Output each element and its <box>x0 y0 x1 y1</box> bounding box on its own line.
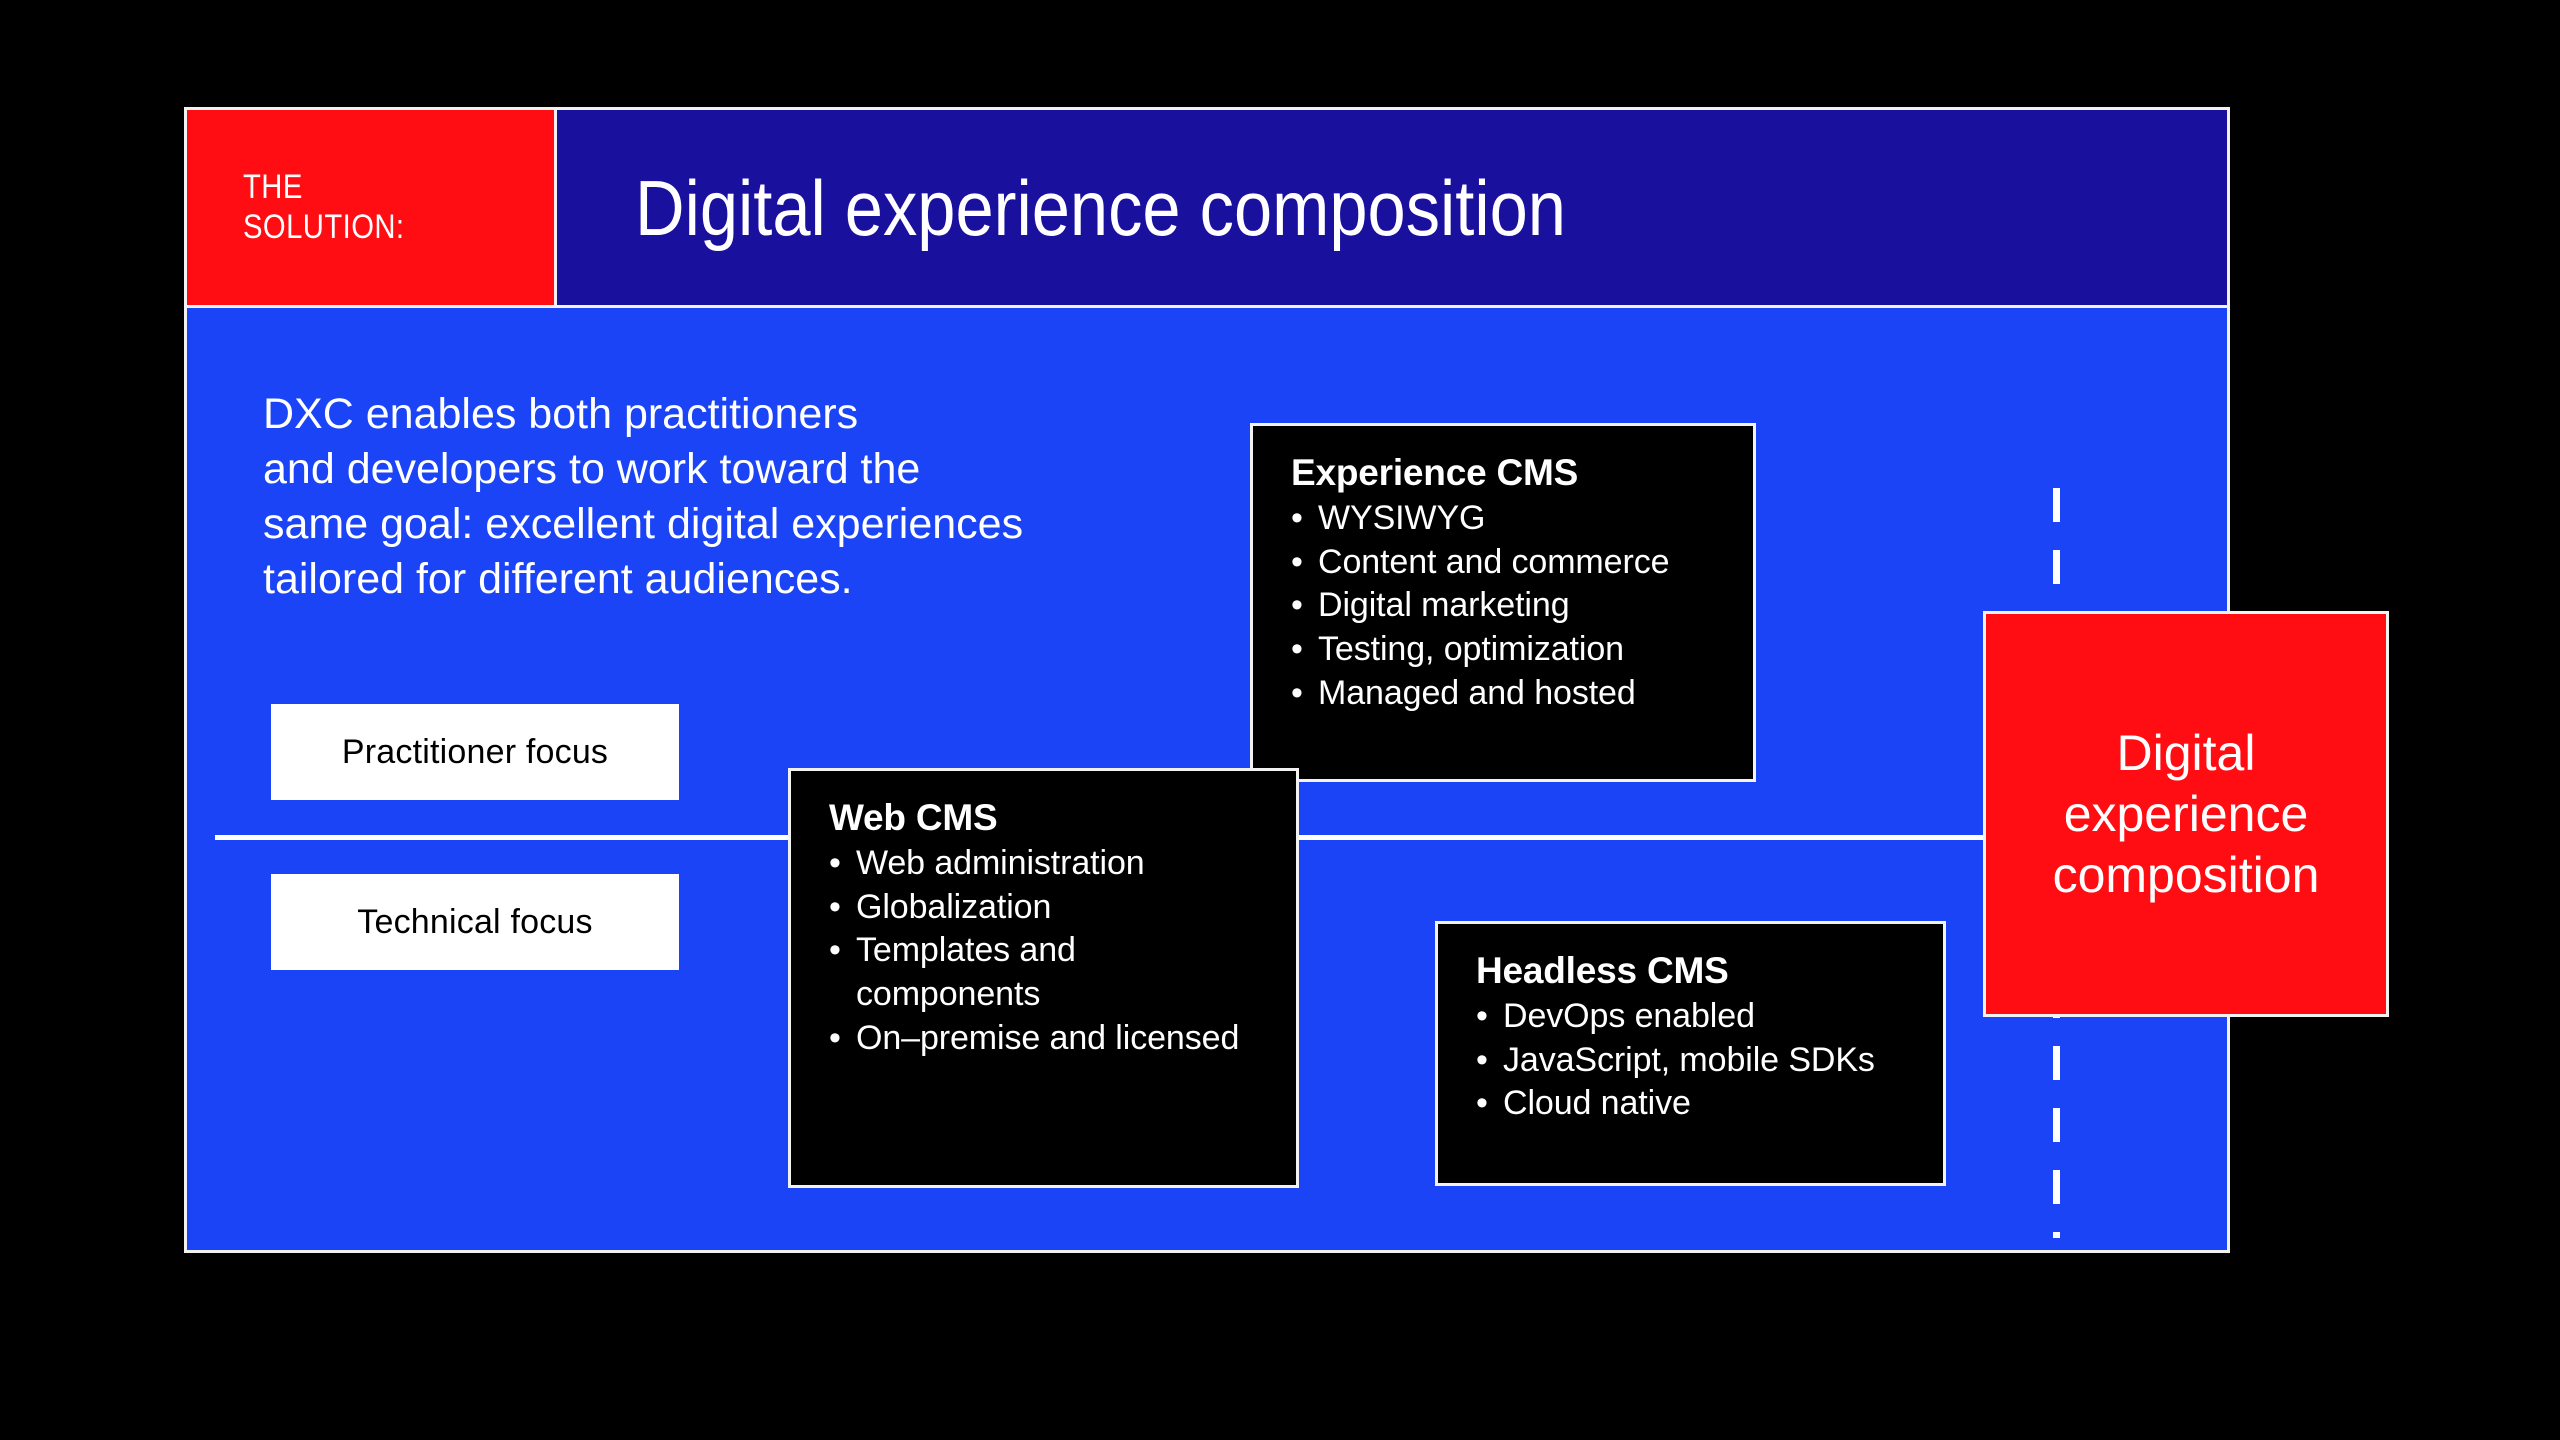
card-headless-cms-title: Headless CMS <box>1476 950 1913 991</box>
intro-line-4: tailored for different audiences. <box>263 552 1183 607</box>
header-title-area: Digital experience composition <box>557 110 2227 305</box>
header-band: THE SOLUTION: Digital experience composi… <box>187 110 2227 308</box>
outcome-line-1: Digital <box>2117 725 2256 781</box>
chip-technical-focus: Technical focus <box>271 874 679 970</box>
card-experience-cms-title: Experience CMS <box>1291 452 1723 493</box>
list-item: On–premise and licensed <box>829 1017 1266 1061</box>
list-item: Managed and hosted <box>1291 672 1723 716</box>
card-headless-cms-list: DevOps enabled JavaScript, mobile SDKs C… <box>1476 995 1913 1126</box>
card-web-cms-list: Web administration Globalization Templat… <box>829 842 1266 1060</box>
chip-practitioner-focus: Practitioner focus <box>271 704 679 800</box>
intro-paragraph: DXC enables both practitioners and devel… <box>263 387 1183 607</box>
list-item: Digital marketing <box>1291 584 1723 628</box>
list-item: WYSIWYG <box>1291 497 1723 541</box>
page-title: Digital experience composition <box>635 169 1566 247</box>
card-headless-cms: Headless CMS DevOps enabled JavaScript, … <box>1435 921 1946 1186</box>
outcome-line-3: composition <box>2053 847 2320 903</box>
list-item: Globalization <box>829 886 1266 930</box>
header-kicker-line-2: SOLUTION: <box>243 208 510 247</box>
intro-line-2: and developers to work toward the <box>263 442 1183 497</box>
list-item: Cloud native <box>1476 1082 1913 1126</box>
content-panel: THE SOLUTION: Digital experience composi… <box>184 107 2230 1253</box>
chip-practitioner-focus-label: Practitioner focus <box>342 733 608 772</box>
card-experience-cms: Experience CMS WYSIWYG Content and comme… <box>1250 423 1756 782</box>
header-kicker-line-1: THE <box>243 168 510 207</box>
card-web-cms: Web CMS Web administration Globalization… <box>788 768 1299 1188</box>
card-web-cms-title: Web CMS <box>829 797 1266 838</box>
header-kicker: THE SOLUTION: <box>187 110 557 305</box>
list-item: Testing, optimization <box>1291 628 1723 672</box>
slide-canvas: THE SOLUTION: Digital experience composi… <box>0 0 2560 1440</box>
list-item: Content and commerce <box>1291 541 1723 585</box>
intro-line-1: DXC enables both practitioners <box>263 387 1183 442</box>
outcome-box: Digital experience composition <box>1983 611 2389 1017</box>
list-item: Templates and components <box>829 929 1266 1016</box>
intro-line-3: same goal: excellent digital experiences <box>263 497 1183 552</box>
chip-technical-focus-label: Technical focus <box>357 903 592 942</box>
outcome-box-text: Digital experience composition <box>2053 723 2320 906</box>
list-item: JavaScript, mobile SDKs <box>1476 1039 1913 1083</box>
list-item: Web administration <box>829 842 1266 886</box>
card-experience-cms-list: WYSIWYG Content and commerce Digital mar… <box>1291 497 1723 715</box>
list-item: DevOps enabled <box>1476 995 1913 1039</box>
outcome-line-2: experience <box>2064 786 2309 842</box>
